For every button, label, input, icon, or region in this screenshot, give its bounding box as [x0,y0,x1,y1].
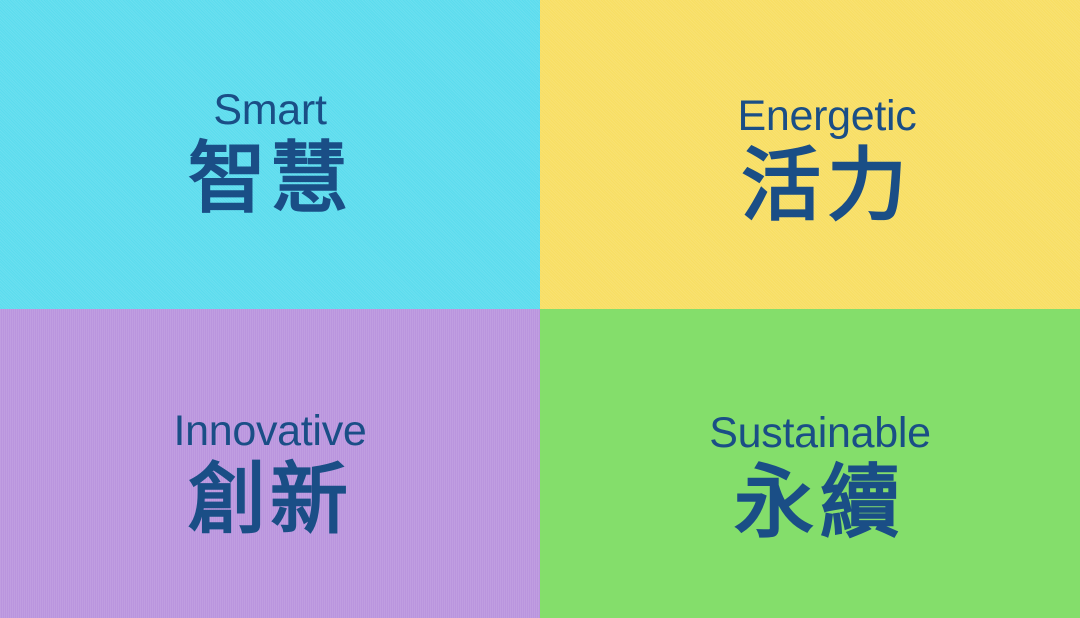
quadrant-sustainable-label-en: Sustainable [560,411,1080,456]
quadrant-innovative-label-en: Innovative [0,409,540,454]
quadrant-innovative: Innovative 創新 [0,309,540,618]
brand-values-poster: Smart 智慧 Energetic 活力 Innovative 創新 Sust… [0,0,1080,618]
quadrant-innovative-text: Innovative 創新 [0,409,540,542]
quadrant-smart-label-zh: 智慧 [0,137,540,221]
quadrant-smart-label-en: Smart [0,88,540,133]
quadrant-energetic-label-en: Energetic [574,94,1080,139]
quadrant-smart: Smart 智慧 [0,0,540,309]
quadrant-energetic: Energetic 活力 [540,0,1080,309]
quadrant-smart-text: Smart 智慧 [0,88,540,221]
quadrant-sustainable: Sustainable 永續 [540,309,1080,618]
quadrant-sustainable-label-zh: 永續 [560,460,1080,546]
quadrant-energetic-text: Energetic 活力 [574,94,1080,229]
quadrant-innovative-label-zh: 創新 [0,458,540,542]
quadrant-sustainable-text: Sustainable 永續 [560,411,1080,546]
quadrant-energetic-label-zh: 活力 [574,143,1080,229]
